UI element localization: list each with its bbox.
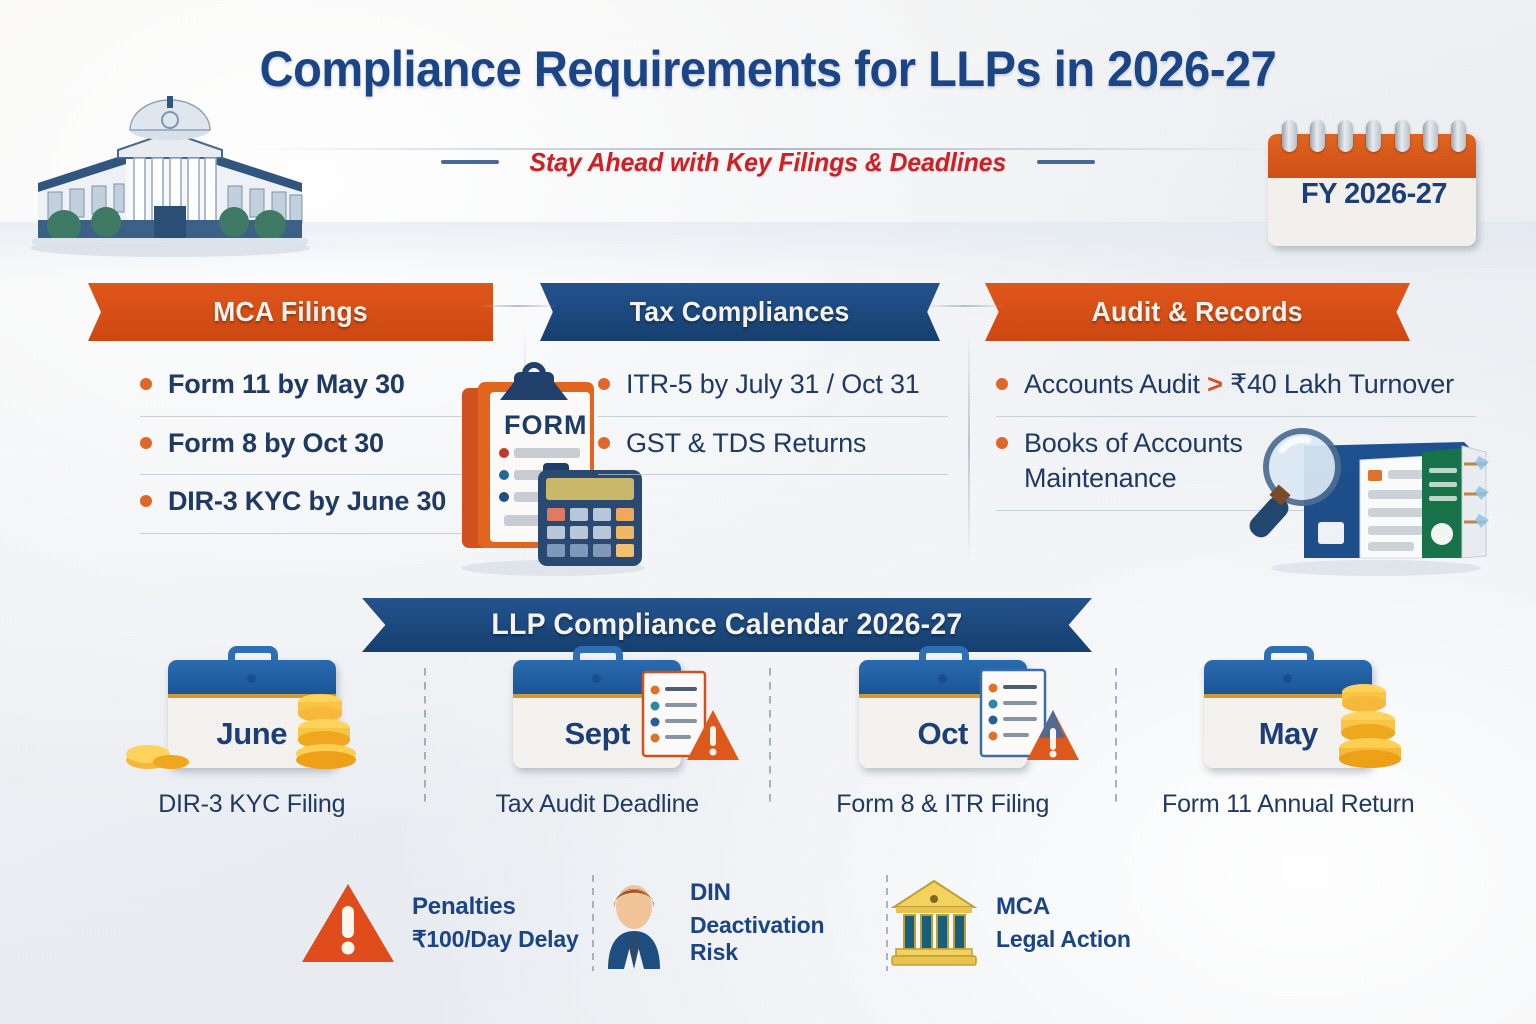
bullet-dot-icon — [598, 378, 610, 390]
briefcase-icon: Sept — [513, 660, 681, 768]
risk-detail: Deactivation Risk — [690, 912, 840, 966]
list-item-label: DIR-3 KYC by June 30 — [168, 484, 446, 520]
compliance-timeline: June DIR-3 KYC Filing — [80, 660, 1460, 825]
list-item-label: ITR-5 by July 31 / Oct 31 — [626, 367, 920, 403]
person-icon — [594, 877, 674, 969]
calendar-rings — [1282, 120, 1466, 152]
briefcase-icon: Oct — [859, 660, 1027, 768]
risk-detail: ₹100/Day Delay — [412, 926, 579, 953]
section-title-mca: MCA Filings — [213, 296, 368, 328]
list-item-label: Books of Accounts Maintenance — [1024, 426, 1274, 497]
bullet-dot-icon — [598, 437, 610, 449]
fy-calendar-badge: FY 2026-27 — [1268, 120, 1480, 250]
section-title-tax: Tax Compliances — [630, 296, 850, 328]
risk-detail: Legal Action — [996, 926, 1131, 953]
binder-files-icon — [1246, 422, 1491, 577]
timeline-label: DIR-3 KYC Filing — [158, 790, 345, 819]
timeline-item-june: June DIR-3 KYC Filing — [80, 660, 424, 819]
page-title: Compliance Requirements for LLPs in 2026… — [46, 40, 1490, 98]
bullet-dot-icon — [996, 437, 1008, 449]
briefcase-icon: May — [1204, 660, 1372, 768]
calendar-banner: LLP Compliance Calendar 2026-27 — [362, 598, 1092, 652]
briefcase-icon: June — [168, 660, 336, 768]
list-item-label: GST & TDS Returns — [626, 426, 866, 462]
list-item: Accounts Audit > ₹40 Lakh Turnover — [996, 358, 1476, 417]
svg-text:FORM: FORM — [504, 410, 587, 440]
bullet-dot-icon — [996, 378, 1008, 390]
timeline-label: Tax Audit Deadline — [496, 790, 699, 819]
list-item-label: Form 11 by May 30 — [168, 367, 405, 403]
list-item: GST & TDS Returns — [598, 417, 948, 476]
warning-triangle-icon — [300, 880, 396, 966]
risk-title: DIN — [690, 879, 840, 907]
risk-text: Penalties ₹100/Day Delay — [412, 893, 579, 953]
list-item: DIR-3 KYC by June 30 — [140, 475, 470, 534]
risk-title: MCA — [996, 893, 1131, 921]
bullet-dot-icon — [140, 495, 152, 507]
risk-text: DIN Deactivation Risk — [690, 879, 840, 966]
timeline-item-oct: Oct Form 8 & ITR Filing — [771, 660, 1115, 819]
list-item-label: Form 8 by Oct 30 — [168, 426, 384, 462]
timeline-item-may: May Form 11 Annual Return — [1117, 660, 1461, 819]
list-item-label: Accounts Audit > ₹40 Lakh Turnover — [1024, 367, 1454, 403]
banner-connector-left — [478, 305, 558, 307]
risk-item-penalties: Penalties ₹100/Day Delay — [300, 880, 592, 966]
section-banner-tax: Tax Compliances — [540, 283, 940, 341]
calculator-icon — [538, 463, 642, 566]
risk-divider — [592, 875, 594, 971]
risk-text: MCA Legal Action — [996, 893, 1131, 953]
page-subtitle: Stay Ahead with Key Filings & Deadlines — [530, 147, 1007, 178]
banner-connector-right — [925, 305, 1005, 307]
risk-divider — [886, 875, 888, 971]
subtitle-rule-left — [441, 160, 499, 164]
risk-item-din: DIN Deactivation Risk — [594, 877, 886, 969]
risk-row: Penalties ₹100/Day Delay DIN Deactivatio… — [300, 860, 1180, 985]
list-item: ITR-5 by July 31 / Oct 31 — [598, 358, 948, 417]
bullet-dot-icon — [140, 378, 152, 390]
gold-coins-icon — [126, 712, 198, 770]
list-item: Form 8 by Oct 30 — [140, 417, 470, 476]
section-banner-mca: MCA Filings — [88, 283, 493, 341]
risk-item-mca: MCA Legal Action — [888, 877, 1180, 969]
checklist-warning-icon — [977, 666, 1085, 774]
fy-badge-label: FY 2026-27 — [1268, 178, 1480, 211]
subtitle-rule-right — [1037, 160, 1095, 164]
bullet-dot-icon — [140, 437, 152, 449]
section-list-tax: ITR-5 by July 31 / Oct 31 GST & TDS Retu… — [598, 358, 948, 475]
gold-coins-icon — [1332, 678, 1418, 770]
infographic-poster: Compliance Requirements for LLPs in 2026… — [0, 0, 1536, 1024]
list-item: Form 11 by May 30 — [140, 358, 470, 417]
calendar-banner-title: LLP Compliance Calendar 2026-27 — [491, 608, 962, 642]
risk-title: Penalties — [412, 893, 579, 921]
section-list-mca: Form 11 by May 30 Form 8 by Oct 30 DIR-3… — [140, 358, 470, 534]
gold-coins-icon — [290, 684, 368, 770]
bank-building-icon — [888, 877, 980, 969]
checklist-warning-icon — [639, 668, 743, 772]
timeline-label: Form 11 Annual Return — [1162, 790, 1414, 819]
section-title-audit: Audit & Records — [1092, 296, 1303, 328]
column-divider-2 — [968, 330, 970, 560]
timeline-item-sept: Sept Tax Audit Deadline — [426, 660, 770, 819]
timeline-label: Form 8 & ITR Filing — [836, 790, 1049, 819]
section-banner-audit: Audit & Records — [985, 283, 1410, 341]
